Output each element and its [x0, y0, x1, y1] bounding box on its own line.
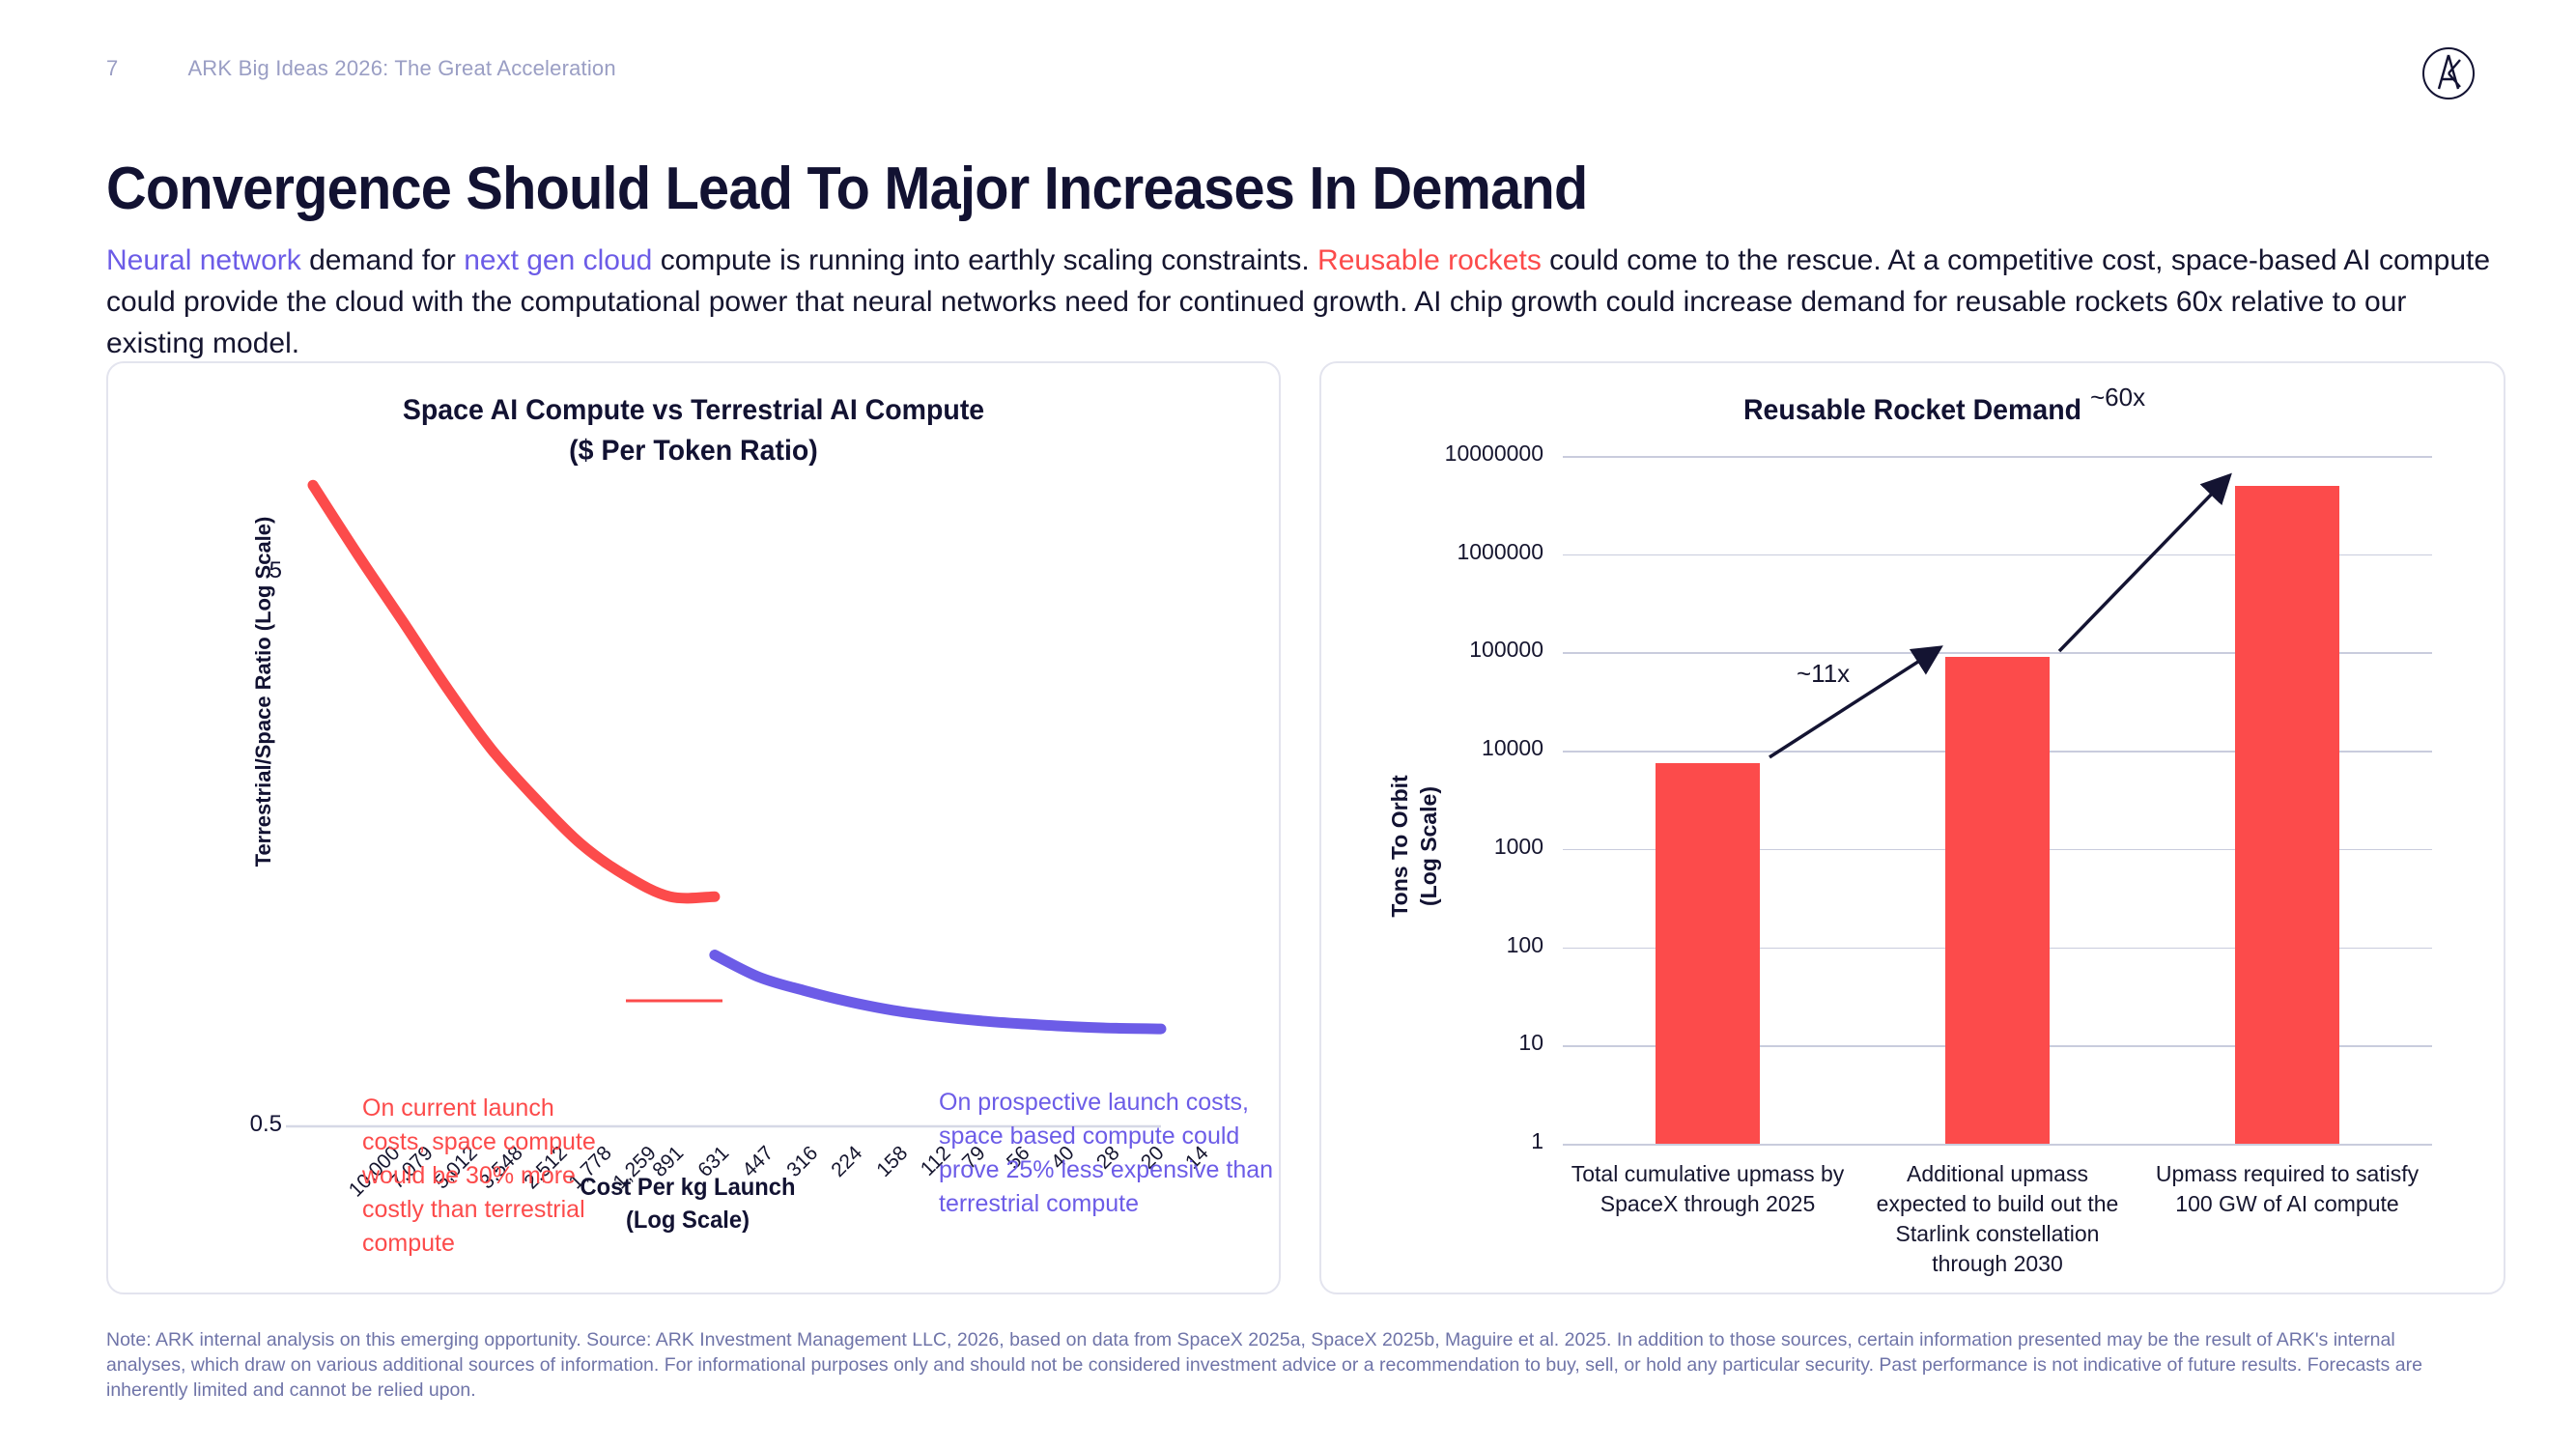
- page-number: 7: [106, 56, 118, 81]
- bar-category-label: Upmass required to satisfy 100 GW of AI …: [2150, 1159, 2424, 1219]
- chart-panel-right: Reusable Rocket Demand Tons To Orbit (Lo…: [1319, 361, 2505, 1294]
- growth-arrow: [2059, 478, 2227, 651]
- footnote-disclaimer: Note: ARK internal analysis on this emer…: [106, 1327, 2444, 1403]
- chart-panel-left: Space AI Compute vs Terrestrial AI Compu…: [106, 361, 1281, 1294]
- ark-logo: [2421, 46, 2476, 100]
- line-series-current-launch-costs: [313, 485, 715, 898]
- growth-arrow: [1769, 649, 1938, 757]
- bar-category-label: Additional upmass expected to build out …: [1860, 1159, 2135, 1279]
- subtitle-highlight-reusable-rockets: Reusable rockets: [1317, 244, 1542, 276]
- arrow-svg: [1321, 363, 2504, 1293]
- line-series-prospective-launch-costs: [715, 955, 1161, 1030]
- multiplier-label-11x: ~11x: [1797, 659, 1850, 689]
- slide: 7 ARK Big Ideas 2026: The Great Accelera…: [0, 0, 2576, 1449]
- slide-header: 7 ARK Big Ideas 2026: The Great Accelera…: [106, 56, 616, 81]
- subtitle-text-1: demand for: [301, 244, 464, 276]
- subtitle-text-2: compute is running into earthly scaling …: [652, 244, 1317, 276]
- deck-title: ARK Big Ideas 2026: The Great Accelerati…: [187, 56, 615, 81]
- bar-category-label: Total cumulative upmass by SpaceX throug…: [1571, 1159, 1845, 1219]
- annotation-current-launch-costs: On current launch costs, space compute w…: [362, 1092, 604, 1261]
- page-title: Convergence Should Lead To Major Increas…: [106, 155, 1587, 223]
- multiplier-label-60x: ~60x: [2090, 383, 2145, 412]
- bar-chart: Tons To Orbit (Log Scale) 10000000100000…: [1321, 363, 2504, 1293]
- annotation-prospective-launch-costs: On prospective launch costs, space based…: [939, 1086, 1306, 1221]
- page-subtitle: Neural network demand for next gen cloud…: [106, 240, 2492, 364]
- subtitle-highlight-neural-network: Neural network: [106, 244, 301, 276]
- subtitle-highlight-next-gen-cloud: next gen cloud: [464, 244, 652, 276]
